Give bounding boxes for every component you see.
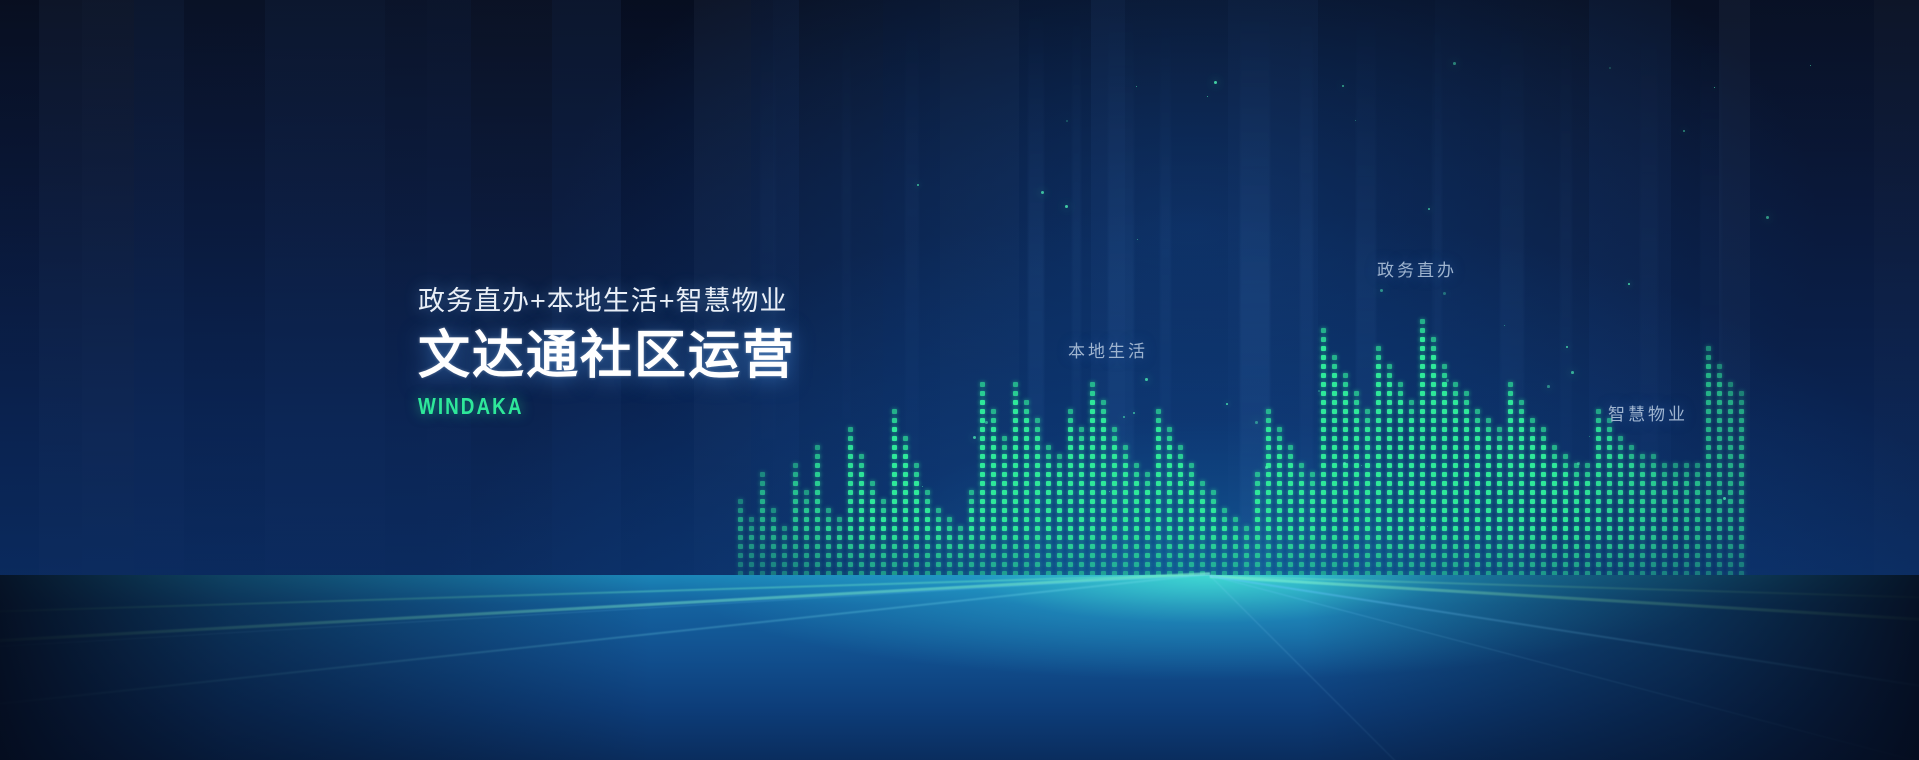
chart-bar-dot	[1354, 391, 1359, 396]
chart-bar-dot	[1618, 553, 1623, 558]
chart-bar-dot	[1420, 319, 1425, 324]
chart-bar-dot	[936, 544, 941, 549]
chart-bar-dot	[1145, 535, 1150, 540]
chart-bar-dot	[1332, 508, 1337, 513]
chart-bar-dot	[1079, 490, 1084, 495]
chart-bar-dot	[1046, 517, 1051, 522]
chart-bar-dot	[870, 598, 875, 603]
chart-bar-dot	[1387, 598, 1392, 603]
chart-bar-dot	[1310, 535, 1315, 540]
chart-bar-dot	[1332, 553, 1337, 558]
chart-bar-dot	[1420, 598, 1425, 603]
chart-bar-dot	[1431, 571, 1436, 576]
chart-bar-dot	[1552, 481, 1557, 486]
chart-bar-dot	[1607, 454, 1612, 459]
chart-bar-dot	[1431, 544, 1436, 549]
chart-bar-dot	[1541, 517, 1546, 522]
chart-bar-dot	[1365, 463, 1370, 468]
chart-bar-dot	[826, 571, 831, 576]
chart-bar-dot	[1695, 562, 1700, 567]
chart-bar-dot	[815, 508, 820, 513]
chart-bar-dot	[1343, 373, 1348, 378]
chart-bar-dot	[1024, 553, 1029, 558]
chart-bar-dot	[1189, 481, 1194, 486]
chart-bar-dot	[1640, 544, 1645, 549]
chart-bar-dot	[1079, 427, 1084, 432]
chart-bar-dot	[1530, 571, 1535, 576]
chart-bar-dot	[1354, 526, 1359, 531]
chart-bar-dot	[1541, 535, 1546, 540]
chart-bar-dot	[1596, 508, 1601, 513]
chart-bar-dot	[1200, 553, 1205, 558]
chart-bar-dot	[1706, 517, 1711, 522]
chart-bar-dot	[1651, 607, 1656, 612]
chart-bar-dot	[1134, 571, 1139, 576]
chart-bar-dot	[1475, 526, 1480, 531]
chart-bar-dot	[1420, 526, 1425, 531]
chart-bar	[1541, 426, 1548, 612]
chart-bar-dot	[1013, 400, 1018, 405]
chart-bar-dot	[991, 571, 996, 576]
chart-bar-dot	[1068, 508, 1073, 513]
chart-bar-dot	[749, 526, 754, 531]
chart-bar-dot	[1409, 463, 1414, 468]
chart-bar-dot	[1607, 508, 1612, 513]
chart-bar-dot	[1475, 472, 1480, 477]
chart-bar-dot	[859, 598, 864, 603]
chart-bar-dot	[1090, 553, 1095, 558]
chart-bar-dot	[1629, 472, 1634, 477]
chart-bar-dot	[815, 562, 820, 567]
chart-bar-dot	[1706, 364, 1711, 369]
chart-bar-dot	[1343, 535, 1348, 540]
chart-bar-dot	[1497, 463, 1502, 468]
chart-bar-dot	[1343, 562, 1348, 567]
chart-bar-dot	[1343, 490, 1348, 495]
chart-bar-dot	[1145, 499, 1150, 504]
chart-bar-dot	[1585, 607, 1590, 612]
chart-bar-dot	[1013, 526, 1018, 531]
background-stripe	[82, 0, 134, 760]
chart-bar-dot	[1640, 535, 1645, 540]
chart-bar-dot	[1134, 607, 1139, 612]
chart-bar-dot	[1464, 463, 1469, 468]
chart-bar-dot	[1706, 454, 1711, 459]
chart-bar-dot	[1013, 562, 1018, 567]
chart-bar-dot	[1090, 589, 1095, 594]
chart-bar-dot	[1112, 472, 1117, 477]
chart-bar-dot	[1398, 544, 1403, 549]
chart-bar-dot	[1277, 481, 1282, 486]
chart-bar-dot	[1376, 355, 1381, 360]
chart-bar-dot	[1156, 472, 1161, 477]
chart-bar-dot	[1343, 382, 1348, 387]
chart-bar-dot	[1134, 580, 1139, 585]
chart-bar-dot	[1519, 535, 1524, 540]
chart-bar-dot	[1156, 544, 1161, 549]
chart-bar-dot	[1739, 400, 1744, 405]
chart-bar-dot	[760, 544, 765, 549]
chart-bar-dot	[980, 562, 985, 567]
chart-bar-dot	[870, 517, 875, 522]
chart-bar-dot	[1728, 409, 1733, 414]
chart-bar-dot	[925, 598, 930, 603]
chart-bar-dot	[1409, 562, 1414, 567]
chart-bar-dot	[1420, 373, 1425, 378]
chart-bar-dot	[1596, 553, 1601, 558]
chart-bar	[958, 526, 965, 612]
chart-bar-dot	[826, 544, 831, 549]
chart-bar-dot	[1222, 535, 1227, 540]
chart-bar-dot	[1552, 589, 1557, 594]
chart-bar-dot	[881, 499, 886, 504]
chart-bar-dot	[1101, 409, 1106, 414]
chart-bar-dot	[1112, 562, 1117, 567]
chart-bar-dot	[1277, 436, 1282, 441]
chart-bar-dot	[1464, 391, 1469, 396]
chart-bar-dot	[1288, 454, 1293, 459]
chart-bar-dot	[782, 571, 787, 576]
chart-bar-dot	[1266, 607, 1271, 612]
chart-bar-dot	[1684, 607, 1689, 612]
chart-bar-dot	[1607, 481, 1612, 486]
glow-particle	[922, 486, 923, 487]
chart-bar-dot	[1068, 589, 1073, 594]
chart-bar-dot	[1079, 535, 1084, 540]
chart-bar-dot	[1739, 589, 1744, 594]
chart-bar-dot	[1134, 463, 1139, 468]
chart-bar-dot	[1552, 463, 1557, 468]
chart-bar-dot	[1651, 463, 1656, 468]
chart-bar-dot	[826, 526, 831, 531]
chart-bar-dot	[1024, 445, 1029, 450]
chart-bar-dot	[1728, 436, 1733, 441]
chart-bar-dot	[991, 580, 996, 585]
chart-bar-dot	[826, 589, 831, 594]
chart-bar-dot	[947, 544, 952, 549]
chart-bar-dot	[1200, 598, 1205, 603]
chart-bar-dot	[1288, 481, 1293, 486]
chart-bar-dot	[815, 472, 820, 477]
glow-particle	[1571, 371, 1574, 374]
chart-bar-dot	[1343, 544, 1348, 549]
chart-bar-dot	[1629, 553, 1634, 558]
chart-bar-dot	[1343, 598, 1348, 603]
chart-bar-dot	[892, 454, 897, 459]
chart-bar-dot	[749, 517, 754, 522]
chart-bar-dot	[1541, 490, 1546, 495]
chart-bar-dot	[1651, 535, 1656, 540]
chart-bar-dot	[1398, 526, 1403, 531]
chart-bar-dot	[1662, 481, 1667, 486]
chart-bar-dot	[892, 589, 897, 594]
chart-bar-dot	[1321, 580, 1326, 585]
chart-bar-dot	[1387, 526, 1392, 531]
chart-bar-dot	[1442, 454, 1447, 459]
chart-bar-dot	[848, 463, 853, 468]
chart-bar-dot	[903, 445, 908, 450]
chart-bar-dot	[1101, 436, 1106, 441]
chart-bar	[991, 406, 998, 612]
chart-bar-dot	[1090, 598, 1095, 603]
chart-bar-dot	[1530, 517, 1535, 522]
chart-bar-dot	[1464, 400, 1469, 405]
chart-category-label-3: 智慧物业	[1608, 400, 1688, 425]
chart-bar-dot	[1475, 535, 1480, 540]
chart-bar-dot	[1035, 553, 1040, 558]
glow-particle	[1810, 65, 1811, 66]
chart-bar-dot	[1640, 463, 1645, 468]
chart-bar-dot	[1618, 481, 1623, 486]
chart-bar-dot	[1585, 481, 1590, 486]
chart-bar-dot	[903, 508, 908, 513]
chart-bar-dot	[1222, 589, 1227, 594]
chart-bar-dot	[1387, 571, 1392, 576]
chart-bar-dot	[1486, 544, 1491, 549]
chart-bar-dot	[1332, 580, 1337, 585]
chart-bar-dot	[1662, 544, 1667, 549]
chart-bar-dot	[881, 580, 886, 585]
chart-bar-dot	[1453, 508, 1458, 513]
chart-bar-dot	[1211, 562, 1216, 567]
chart-bar-dot	[1706, 508, 1711, 513]
chart-bar-dot	[1662, 580, 1667, 585]
chart-bar-dot	[1695, 607, 1700, 612]
chart-bar-dot	[1002, 454, 1007, 459]
chart-bar-dot	[1002, 553, 1007, 558]
chart-bar-dot	[1398, 535, 1403, 540]
chart-bar-dot	[1563, 571, 1568, 576]
chart-bar-dot	[903, 490, 908, 495]
chart-bar	[1079, 424, 1086, 612]
chart-bar-dot	[1332, 535, 1337, 540]
chart-bar-dot	[1211, 499, 1216, 504]
chart-bar-dot	[1431, 346, 1436, 351]
chart-bar-dot	[1387, 589, 1392, 594]
chart-bar-dot	[1244, 553, 1249, 558]
chart-bar	[749, 516, 756, 612]
chart-bar-dot	[760, 508, 765, 513]
chart-bar-dot	[1486, 481, 1491, 486]
chart-bar-dot	[1266, 571, 1271, 576]
glow-particle	[917, 184, 919, 186]
chart-bar-dot	[1299, 571, 1304, 576]
chart-bar-dot	[1024, 526, 1029, 531]
chart-bar-dot	[793, 571, 798, 576]
chart-bar-dot	[1046, 499, 1051, 504]
chart-bar-dot	[1398, 409, 1403, 414]
chart-bar-dot	[980, 508, 985, 513]
chart-bar-dot	[1541, 607, 1546, 612]
chart-bar-dot	[760, 535, 765, 540]
chart-bar-dot	[1365, 490, 1370, 495]
chart-bar-dot	[1508, 472, 1513, 477]
perspective-ray	[1210, 575, 1919, 760]
chart-bar-dot	[1442, 562, 1447, 567]
chart-bar-dot	[1057, 481, 1062, 486]
chart-bar-dot	[1387, 553, 1392, 558]
glow-particle	[973, 436, 976, 439]
chart-bar-dot	[1596, 436, 1601, 441]
chart-bar-dot	[1420, 481, 1425, 486]
chart-bar-dot	[980, 463, 985, 468]
chart-bar-dot	[1552, 499, 1557, 504]
background-stripe	[1671, 0, 1719, 760]
chart-bar-dot	[892, 508, 897, 513]
chart-bar-dot	[936, 607, 941, 612]
chart-bar-dot	[1596, 418, 1601, 423]
chart-bar-dot	[991, 445, 996, 450]
chart-bar-dot	[1255, 598, 1260, 603]
chart-bar-dot	[1662, 517, 1667, 522]
glow-particle	[1446, 379, 1449, 382]
chart-bar-dot	[1024, 517, 1029, 522]
chart-bar-dot	[848, 436, 853, 441]
chart-bar-dot	[1321, 589, 1326, 594]
chart-bar-dot	[969, 598, 974, 603]
chart-bar-dot	[1200, 607, 1205, 612]
chart-bar-dot	[1398, 562, 1403, 567]
chart-bar-dot	[1508, 571, 1513, 576]
chart-bar-dot	[1420, 427, 1425, 432]
glow-particle	[1547, 385, 1550, 388]
chart-bar-dot	[914, 607, 919, 612]
chart-bar-dot	[1508, 553, 1513, 558]
chart-bar-dot	[1376, 553, 1381, 558]
chart-bar-dot	[1332, 445, 1337, 450]
chart-bar-dot	[1508, 490, 1513, 495]
chart-bar-dot	[1354, 535, 1359, 540]
chart-bar-dot	[1442, 517, 1447, 522]
chart-bar-dot	[1090, 481, 1095, 486]
chart-bar-dot	[1409, 544, 1414, 549]
chart-bar-dot	[1189, 589, 1194, 594]
chart-bar-dot	[1365, 409, 1370, 414]
chart-bar-dot	[1189, 472, 1194, 477]
chart-bar-dot	[1508, 517, 1513, 522]
chart-bar-dot	[980, 535, 985, 540]
chart-bar	[771, 508, 778, 612]
chart-bar-dot	[892, 409, 897, 414]
chart-bar-dot	[1673, 508, 1678, 513]
chart-bar-dot	[1376, 598, 1381, 603]
chart-bar-dot	[1651, 553, 1656, 558]
chart-bar-dot	[1189, 544, 1194, 549]
chart-bar-dot	[793, 472, 798, 477]
chart-bar-dot	[1420, 607, 1425, 612]
background-stripe	[799, 0, 883, 760]
chart-bar-dot	[859, 454, 864, 459]
chart-bar-dot	[1035, 418, 1040, 423]
chart-bar-dot	[1717, 544, 1722, 549]
chart-bar-dot	[859, 535, 864, 540]
chart-bar-dot	[1651, 598, 1656, 603]
chart-bar-dot	[738, 544, 743, 549]
chart-bar-dot	[1013, 589, 1018, 594]
chart-bar-dot	[1475, 454, 1480, 459]
chart-bar-dot	[1717, 436, 1722, 441]
chart-bar	[1706, 344, 1713, 612]
chart-bar-dot	[1530, 544, 1535, 549]
chart-bar-dot	[1035, 490, 1040, 495]
chart-bar-dot	[1629, 598, 1634, 603]
chart-bar-dot	[980, 436, 985, 441]
chart-bar-dot	[1299, 589, 1304, 594]
light-beam	[1300, 0, 1313, 540]
chart-bar-dot	[848, 499, 853, 504]
chart-bar-dot	[1101, 553, 1106, 558]
chart-bar-dot	[1156, 589, 1161, 594]
chart-bar-dot	[1475, 499, 1480, 504]
chart-bar-dot	[1464, 598, 1469, 603]
chart-bar-dot	[1244, 607, 1249, 612]
chart-bar-dot	[1717, 589, 1722, 594]
glow-particle	[992, 454, 993, 455]
chart-bar-dot	[969, 607, 974, 612]
chart-bar-dot	[1354, 463, 1359, 468]
chart-bar-dot	[1354, 517, 1359, 522]
chart-bar-dot	[1288, 526, 1293, 531]
chart-bar-dot	[1013, 490, 1018, 495]
chart-bar-dot	[1409, 571, 1414, 576]
chart-bar-dot	[1728, 544, 1733, 549]
chart-bar-dot	[1695, 544, 1700, 549]
chart-bar-dot	[903, 553, 908, 558]
chart-bar-dot	[1299, 463, 1304, 468]
chart-bar-dot	[1409, 526, 1414, 531]
chart-bar-dot	[1332, 598, 1337, 603]
chart-bar-dot	[1013, 382, 1018, 387]
chart-bar-dot	[1343, 445, 1348, 450]
glow-particle	[1443, 292, 1446, 295]
chart-bar-dot	[826, 508, 831, 513]
chart-bar-dot	[1706, 580, 1711, 585]
chart-bar-dot	[947, 562, 952, 567]
chart-bar-dot	[1112, 607, 1117, 612]
chart-bar-dot	[1728, 490, 1733, 495]
chart-bar-dot	[1431, 481, 1436, 486]
chart-bar-dot	[1211, 571, 1216, 576]
chart-bar-dot	[848, 580, 853, 585]
chart-bar-dot	[870, 553, 875, 558]
chart-bar-dot	[1145, 526, 1150, 531]
chart-bar-dot	[969, 517, 974, 522]
chart-bar-dot	[782, 544, 787, 549]
chart-bar-dot	[1266, 454, 1271, 459]
chart-bar-dot	[1717, 463, 1722, 468]
chart-bar-dot	[1530, 589, 1535, 594]
chart-bar-dot	[1530, 490, 1535, 495]
chart-bar-dot	[1365, 508, 1370, 513]
chart-bar-dot	[1574, 580, 1579, 585]
chart-bar-dot	[991, 490, 996, 495]
chart-bar-dot	[1519, 499, 1524, 504]
chart-bar-dot	[815, 589, 820, 594]
chart-bar-dot	[1233, 517, 1238, 522]
chart-bar-dot	[1024, 400, 1029, 405]
chart-bar-dot	[1486, 508, 1491, 513]
chart-bar-dot	[793, 553, 798, 558]
chart-bar-dot	[1189, 562, 1194, 567]
chart-bar-dot	[1310, 499, 1315, 504]
chart-bar-dot	[1288, 571, 1293, 576]
chart-bar-dot	[1508, 535, 1513, 540]
chart-bar-dot	[1431, 580, 1436, 585]
chart-bar-dot	[1200, 544, 1205, 549]
chart-bar-dot	[760, 490, 765, 495]
chart-bar	[1255, 470, 1262, 612]
chart-bar-dot	[1376, 508, 1381, 513]
